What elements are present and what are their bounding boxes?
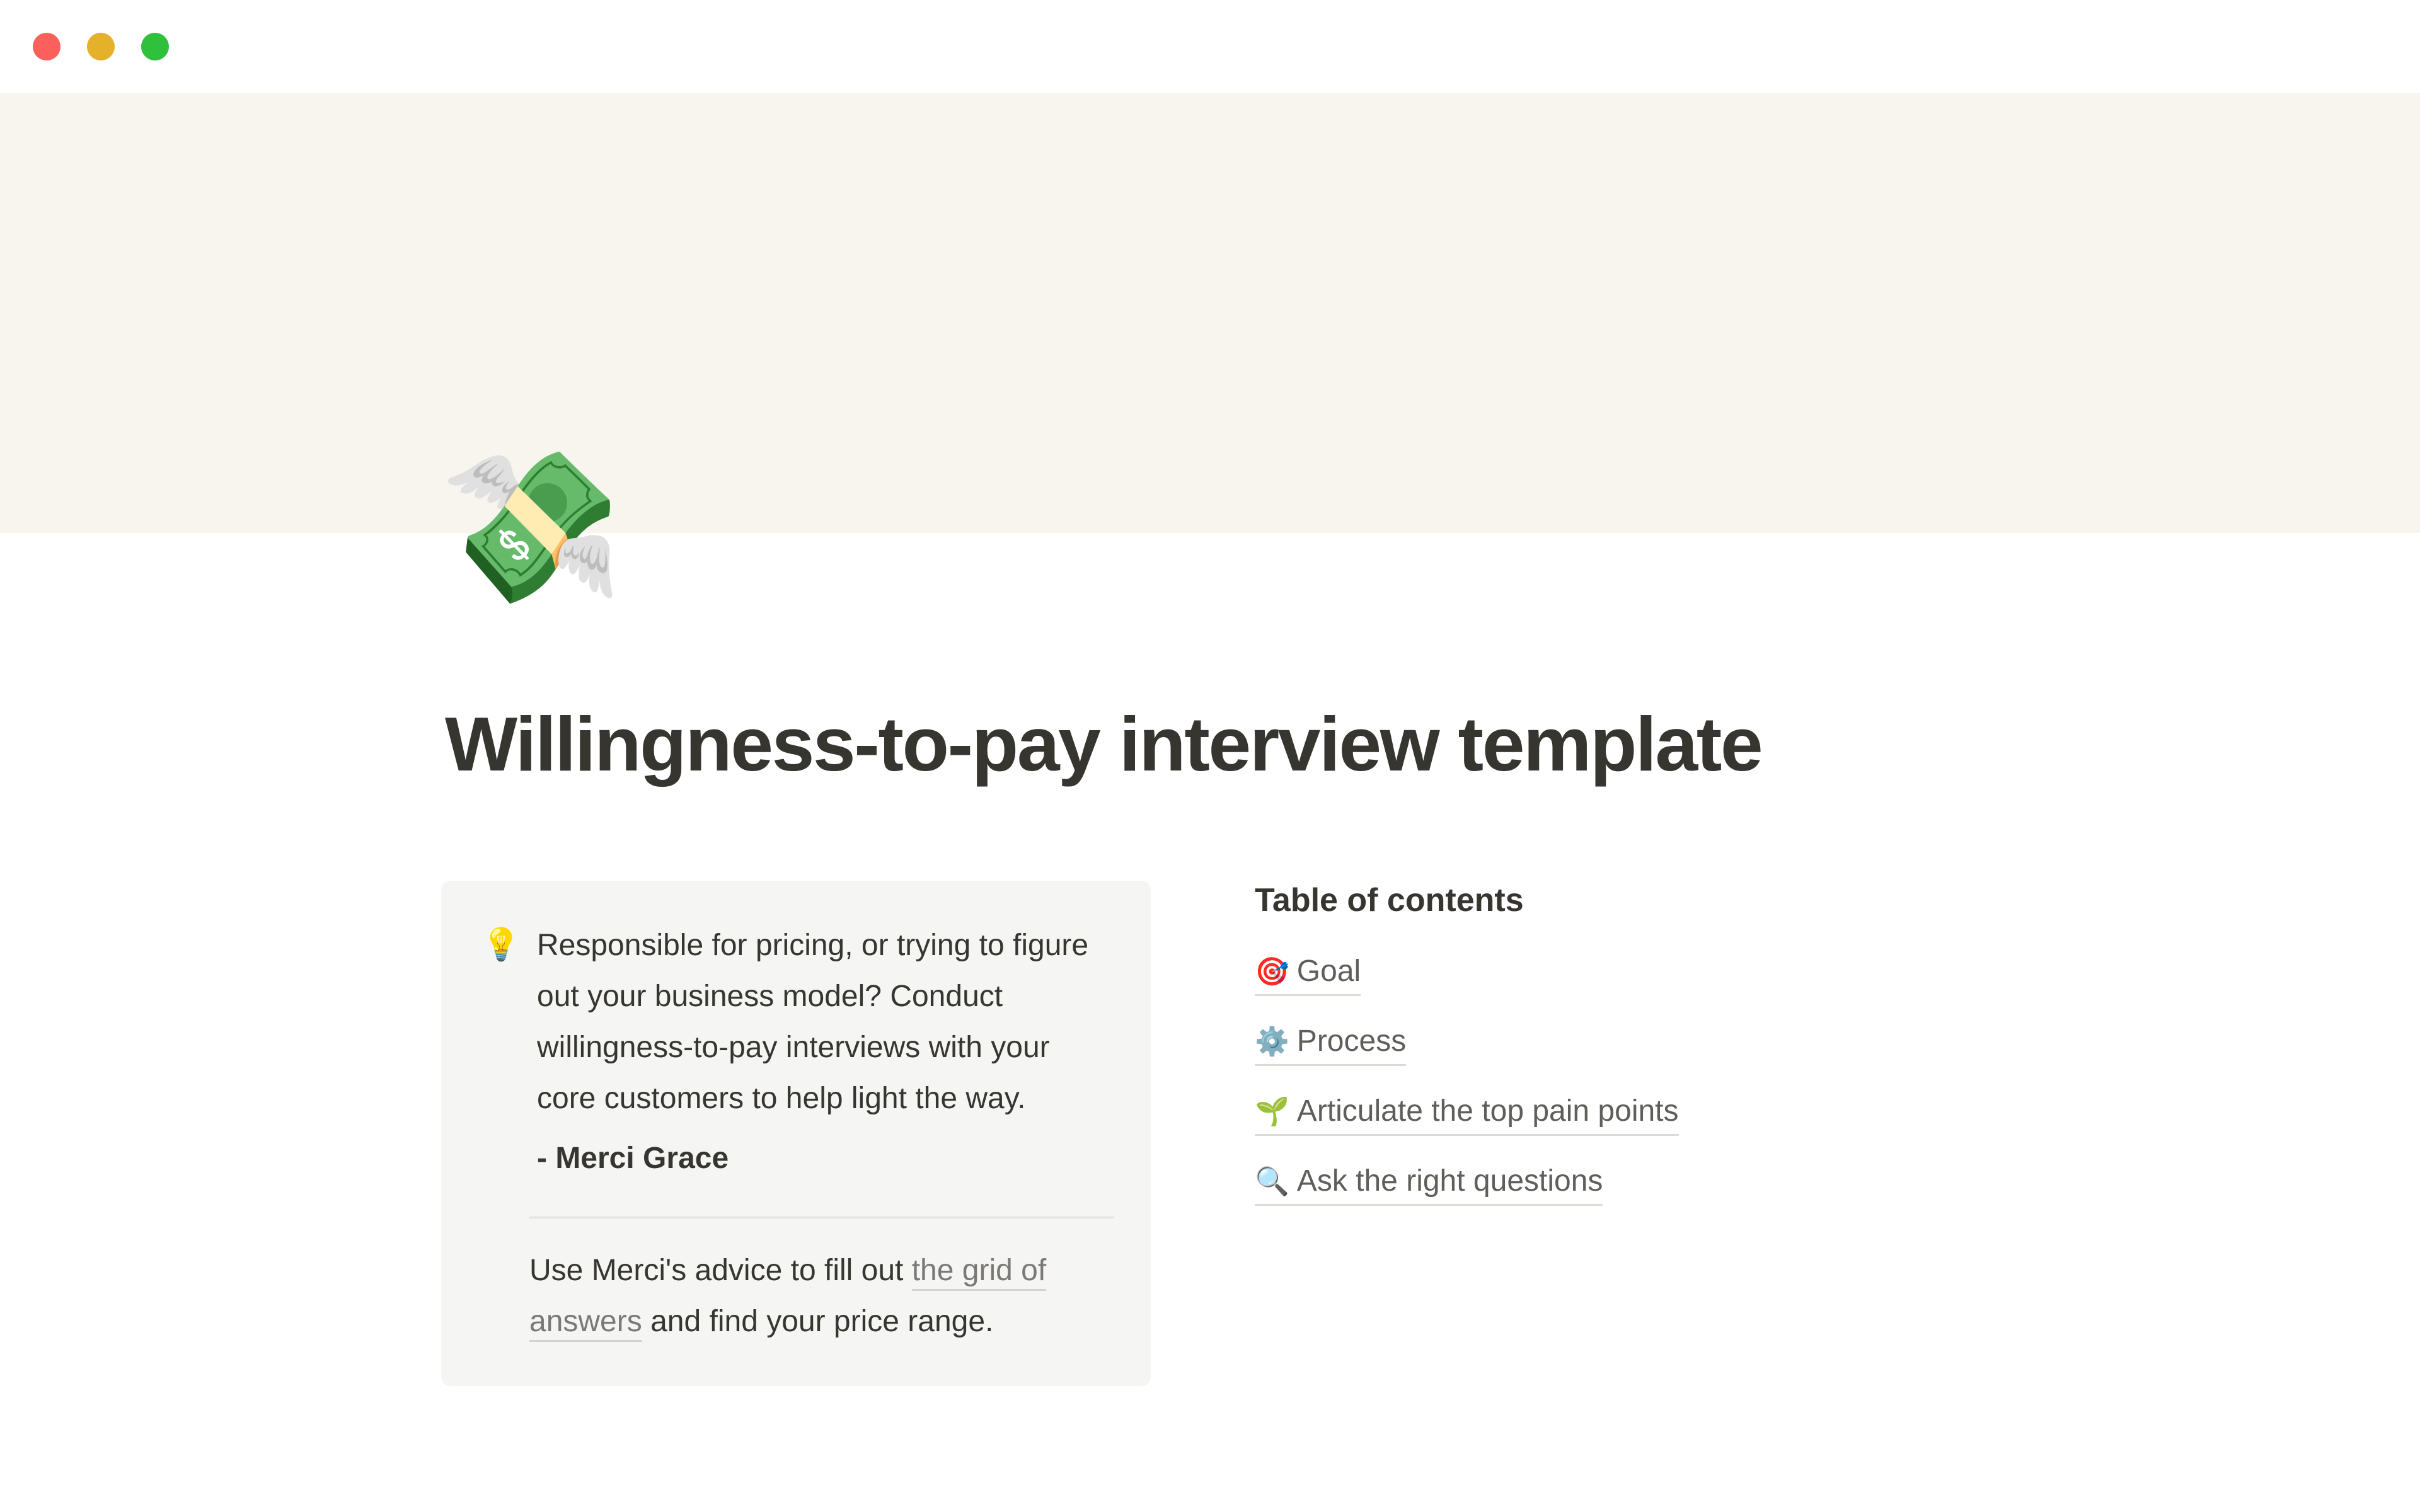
- callout-top-row: 💡 Responsible for pricing, or trying to …: [481, 920, 1112, 1184]
- table-of-contents-list: 🎯Goal ⚙️Process 🌱Articulate the top pain…: [1255, 951, 1986, 1209]
- target-icon: 🎯: [1255, 956, 1289, 988]
- callout-footer-prefix: Use Merci's advice to fill out: [529, 1254, 912, 1287]
- callout-body: Responsible for pricing, or trying to fi…: [529, 920, 1112, 1184]
- toc-link-articulate-pain-points[interactable]: 🌱Articulate the top pain points: [1255, 1091, 1679, 1136]
- lightbulb-icon: 💡: [481, 920, 529, 969]
- toc-label-articulate-pain-points: Articulate the top pain points: [1297, 1094, 1679, 1128]
- toc-link-goal[interactable]: 🎯Goal: [1255, 951, 1361, 996]
- maximize-window-button[interactable]: [141, 33, 169, 60]
- page-title[interactable]: Willingness-to-pay interview template: [445, 698, 2146, 790]
- toc-label-goal: Goal: [1297, 954, 1361, 988]
- callout-footer-text: Use Merci's advice to fill out the grid …: [529, 1245, 1114, 1347]
- callout-footer-suffix: and find your price range.: [642, 1305, 994, 1338]
- toc-link-process[interactable]: ⚙️Process: [1255, 1021, 1406, 1066]
- callout-quote-text: Responsible for pricing, or trying to fi…: [537, 920, 1112, 1124]
- page-cover-image[interactable]: [0, 93, 2420, 533]
- table-of-contents-heading: Table of contents: [1255, 881, 1986, 920]
- toc-item-process: ⚙️Process: [1255, 1021, 1986, 1069]
- window-titlebar: [0, 0, 2420, 93]
- traffic-light-controls: [33, 33, 169, 60]
- minimize-window-button[interactable]: [87, 33, 115, 60]
- close-window-button[interactable]: [33, 33, 60, 60]
- column-right: Table of contents 🎯Goal ⚙️Process 🌱Artic…: [1255, 881, 1986, 1230]
- callout-divider: [529, 1217, 1114, 1218]
- toc-label-process: Process: [1297, 1024, 1406, 1058]
- two-column-layout: 💡 Responsible for pricing, or trying to …: [441, 881, 2054, 1386]
- callout-block[interactable]: 💡 Responsible for pricing, or trying to …: [441, 881, 1151, 1386]
- seedling-icon: 🌱: [1255, 1096, 1289, 1128]
- toc-label-ask-right-questions: Ask the right questions: [1297, 1164, 1603, 1198]
- toc-item-articulate-pain-points: 🌱Articulate the top pain points: [1255, 1091, 1986, 1139]
- money-with-wings-icon[interactable]: 💸: [439, 433, 628, 622]
- toc-item-goal: 🎯Goal: [1255, 951, 1986, 999]
- column-left: 💡 Responsible for pricing, or trying to …: [441, 881, 1151, 1386]
- app-window: 💸 Willingness-to-pay interview template …: [0, 0, 2420, 1512]
- magnifying-glass-icon: 🔍: [1255, 1165, 1289, 1198]
- toc-link-ask-right-questions[interactable]: 🔍Ask the right questions: [1255, 1160, 1603, 1206]
- callout-attribution: - Merci Grace: [537, 1133, 1112, 1184]
- toc-item-ask-right-questions: 🔍Ask the right questions: [1255, 1160, 1986, 1209]
- gear-icon: ⚙️: [1255, 1026, 1289, 1058]
